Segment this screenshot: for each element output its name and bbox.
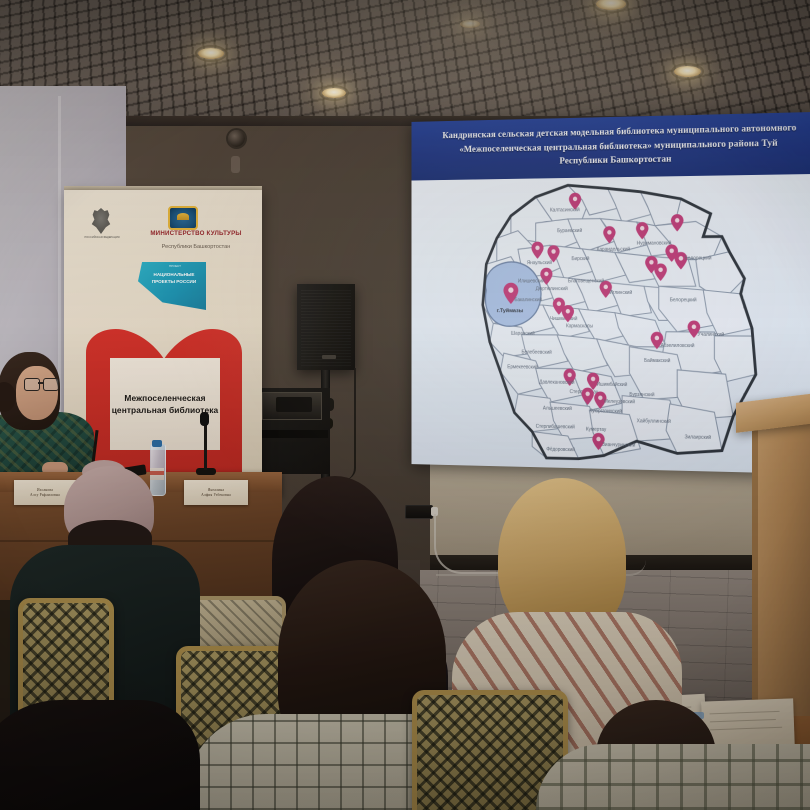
svg-text:Караидельский: Караидельский bbox=[597, 245, 631, 252]
crest-caption: РОССИЙСКАЯ ФЕДЕРАЦИЯ bbox=[84, 236, 120, 248]
eyeglasses-icon bbox=[24, 378, 58, 390]
amplifier-panel bbox=[276, 397, 312, 412]
ceiling-downlight bbox=[198, 48, 224, 59]
cart-shelf bbox=[258, 430, 328, 438]
podium-body bbox=[756, 418, 810, 718]
speaker-logo bbox=[322, 355, 336, 359]
ceiling-downlight bbox=[674, 66, 701, 77]
svg-text:Иглинский: Иглинский bbox=[609, 289, 632, 296]
bottle-label-stripe bbox=[150, 471, 164, 475]
podium-edge bbox=[752, 418, 758, 718]
bashkortostan-emblem-icon bbox=[168, 206, 198, 230]
conference-room-photo: Кандринская сельская детская модельная б… bbox=[0, 0, 810, 810]
svg-text:Бакалинский: Бакалинский bbox=[514, 296, 542, 303]
audience-body bbox=[536, 744, 810, 810]
ministry-subtitle: Республики Башкортостан bbox=[140, 244, 252, 250]
speaker-face bbox=[16, 366, 58, 420]
name-placard: Янгалина Алфия Узбековна bbox=[184, 480, 248, 505]
ceiling-downlight bbox=[596, 0, 626, 10]
svg-text:г.Туймазы: г.Туймазы bbox=[497, 307, 524, 314]
audience-body bbox=[0, 700, 200, 810]
svg-text:Белорецкий: Белорецкий bbox=[670, 296, 697, 303]
svg-text:Кумертау: Кумертау bbox=[586, 427, 607, 433]
svg-text:Куюргазинский: Куюргазинский bbox=[589, 407, 622, 415]
bashkortostan-map: г.Туймазы Караидельский Нуримановский Бе bbox=[458, 171, 768, 469]
placard-given-name: Алсу Рафаиловна bbox=[30, 493, 60, 497]
ceiling-downlight bbox=[322, 88, 346, 98]
placard-given-name: Алфия Узбековна bbox=[201, 493, 231, 497]
microphone-head-icon bbox=[200, 412, 209, 426]
russian-federation-crest-icon bbox=[90, 208, 112, 234]
svg-text:Илишевский: Илишевский bbox=[518, 278, 545, 285]
svg-text:Дюртюлинский: Дюртюлинский bbox=[536, 285, 568, 292]
national-projects-label: НАЦИОНАЛЬНЫЕ ПРОЕКТЫ РОССИИ bbox=[146, 272, 202, 286]
ceiling-downlight bbox=[460, 20, 480, 28]
bottle-cap bbox=[152, 440, 162, 447]
microphone-gooseneck bbox=[204, 420, 207, 470]
national-projects-small-label: ПРОЕКТ bbox=[158, 264, 192, 268]
power-outlet-icon bbox=[405, 505, 433, 519]
svg-text:Благовещенский: Благовещенский bbox=[568, 278, 604, 285]
ministry-title: МИНИСТЕРСТВО КУЛЬТУРЫ bbox=[140, 230, 252, 238]
wall-camera-icon bbox=[228, 130, 245, 147]
speaker-cable bbox=[330, 368, 356, 480]
wall-sensor-icon bbox=[231, 156, 240, 173]
svg-text:Кармаскалы: Кармаскалы bbox=[566, 324, 593, 330]
slide-title: Кандринская сельская детская модельная б… bbox=[427, 121, 810, 172]
